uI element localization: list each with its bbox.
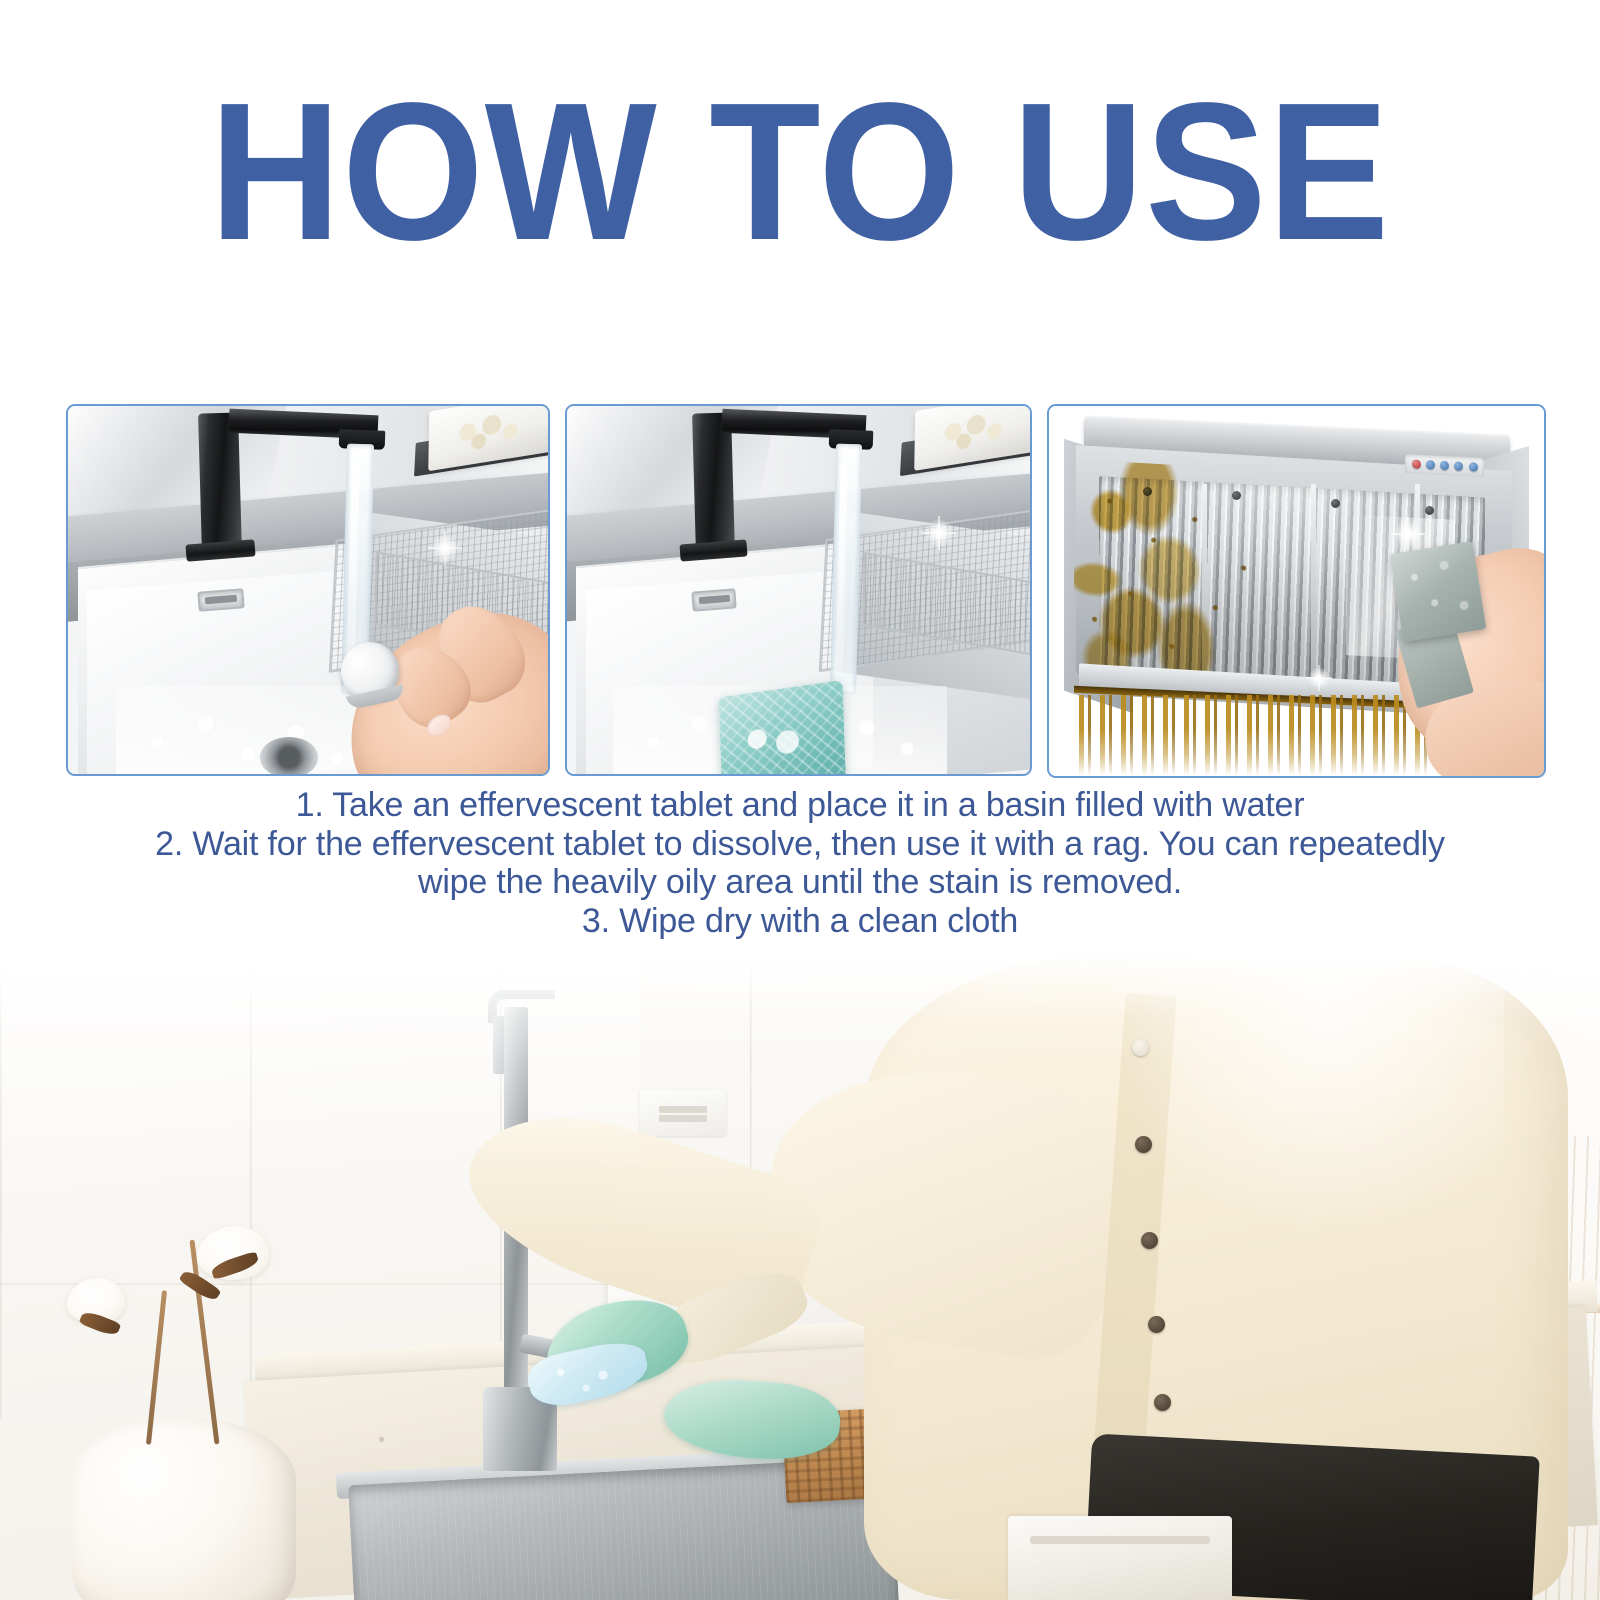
speed-low-button-icon[interactable] bbox=[1441, 461, 1450, 470]
instruction-step-2-cont: wipe the heavily oily area until the sta… bbox=[60, 863, 1540, 902]
instruction-step-3: 3. Wipe dry with a clean cloth bbox=[60, 902, 1540, 941]
instruction-step-2: 2. Wait for the effervescent tablet to d… bbox=[60, 825, 1540, 864]
page-title: HOW TO USE bbox=[210, 74, 1391, 270]
range-hood-control-panel[interactable] bbox=[1405, 454, 1484, 477]
teal-cloth-icon bbox=[718, 680, 846, 774]
step-photo-1-tablet-in-sink bbox=[66, 404, 550, 776]
kitchen-sink-scene-2 bbox=[567, 406, 1030, 774]
instruction-steps: 1. Take an effervescent tablet and place… bbox=[60, 786, 1540, 940]
dishwasher-panel bbox=[1008, 1516, 1232, 1600]
step-photo-2-cloth-in-sink bbox=[565, 404, 1032, 776]
sink-overflow-icon bbox=[197, 588, 244, 611]
wall-outlet-icon bbox=[640, 1090, 726, 1135]
white-vase bbox=[72, 1419, 296, 1600]
instruction-step-1: 1. Take an effervescent tablet and place… bbox=[60, 786, 1540, 825]
range-hood-scene bbox=[1049, 406, 1544, 776]
drain-icon bbox=[260, 737, 318, 774]
kitchen-sink-scene bbox=[68, 406, 548, 774]
light-button-icon[interactable] bbox=[1426, 460, 1435, 469]
page-title-container: HOW TO USE bbox=[0, 74, 1600, 270]
speed-high-button-icon[interactable] bbox=[1469, 462, 1478, 471]
sponge-icon bbox=[1389, 541, 1486, 642]
black-faucet-icon bbox=[692, 413, 735, 554]
step-photo-3-range-hood bbox=[1047, 404, 1546, 778]
sink-overflow-icon bbox=[691, 588, 737, 611]
power-button-icon[interactable] bbox=[1412, 459, 1421, 468]
hero-photo bbox=[0, 955, 1600, 1600]
speed-mid-button-icon[interactable] bbox=[1455, 462, 1464, 471]
step-photo-row bbox=[66, 404, 1546, 780]
black-faucet-icon bbox=[198, 413, 242, 554]
infographic-page: HOW TO USE bbox=[0, 0, 1600, 1600]
